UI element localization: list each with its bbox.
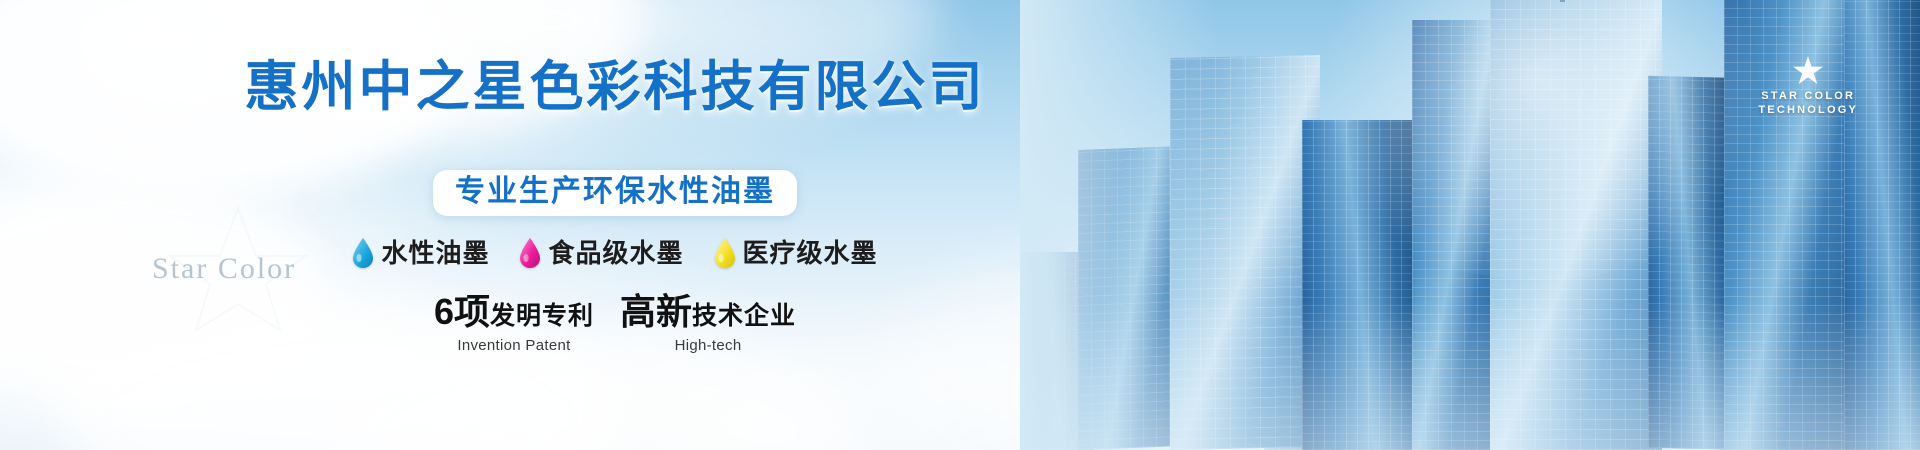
credential-list: 6项发明专利 Invention Patent 高新技术企业 High-tech (434, 294, 796, 354)
corner-logo-line1: STAR COLOR (1758, 89, 1858, 103)
corner-logo-line2: TECHNOLOGY (1758, 103, 1858, 117)
feature-list: 水性油墨 食品级水墨 (352, 238, 877, 268)
credential-number: 6项 (434, 291, 490, 332)
company-hero-banner: Star Color STAR COLOR TECHNOLOGY 惠州中之星色彩… (0, 0, 1920, 450)
feature-label: 医疗级水墨 (743, 240, 878, 266)
credential-chinese-text: 高新技术企业 (620, 294, 796, 330)
feature-item-water-based-ink: 水性油墨 (352, 238, 489, 268)
credential-suffix: 发明专利 (490, 302, 594, 330)
subtitle-text: 专业生产环保水性油墨 (455, 175, 775, 208)
credential-english-caption: High-tech (620, 337, 796, 354)
feature-item-medical-grade-ink: 医疗级水墨 (714, 238, 878, 268)
feature-label: 食品级水墨 (548, 240, 683, 266)
feature-label: 水性油墨 (381, 240, 489, 266)
company-title: 惠州中之星色彩科技有限公司 (245, 60, 986, 114)
banner-content: 惠州中之星色彩科技有限公司 专业生产环保水性油墨 水性油墨 (0, 0, 1230, 450)
credential-chinese-text: 6项发明专利 (434, 294, 594, 330)
corner-brand-logo: STAR COLOR TECHNOLOGY (1758, 56, 1858, 117)
credential-item-patent: 6项发明专利 Invention Patent (434, 294, 594, 354)
credential-item-hightech: 高新技术企业 High-tech (620, 294, 796, 354)
ink-drop-icon (714, 238, 736, 268)
credential-english-caption: Invention Patent (434, 337, 594, 354)
building-spire (1560, 0, 1565, 2)
subtitle-pill: 专业生产环保水性油墨 (433, 170, 797, 216)
credential-suffix: 技术企业 (692, 302, 796, 330)
credential-number: 高新 (620, 291, 692, 332)
feature-item-food-grade-ink: 食品级水墨 (519, 238, 683, 268)
ink-drop-icon (352, 238, 374, 268)
ink-drop-icon (519, 238, 541, 268)
star-icon (1793, 56, 1823, 85)
